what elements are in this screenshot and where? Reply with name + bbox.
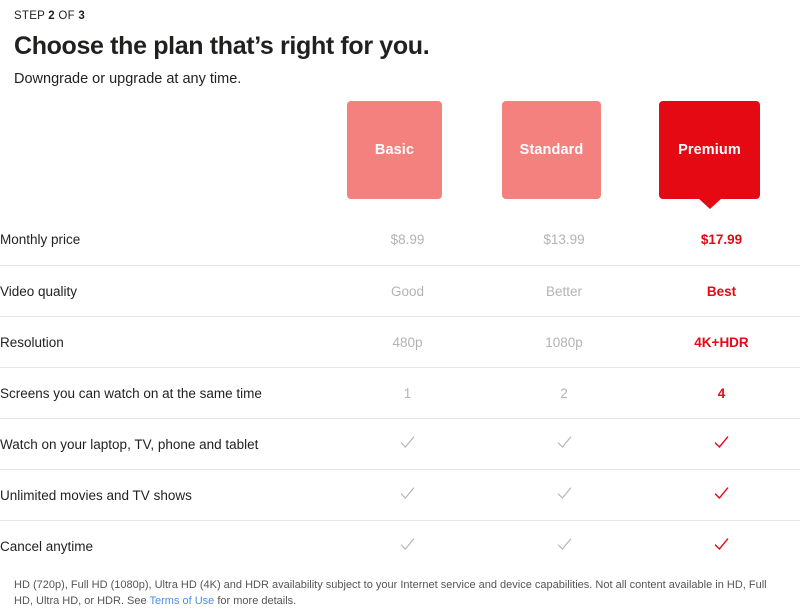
check-icon	[399, 485, 416, 502]
step-middle: OF	[55, 10, 78, 22]
plan-comparison-body: Monthly price $8.99 $13.99 $17.99 Video …	[0, 215, 800, 572]
value-basic: $8.99	[330, 215, 485, 266]
step-prefix: STEP	[14, 10, 48, 22]
value-premium	[643, 521, 800, 572]
terms-of-use-link[interactable]: Terms of Use	[150, 595, 215, 607]
value-premium: $17.99	[643, 215, 800, 266]
step-total: 3	[78, 10, 85, 22]
plan-card-premium[interactable]: Premium	[659, 101, 760, 199]
feature-label: Cancel anytime	[0, 521, 330, 572]
value-premium: 4K+HDR	[643, 317, 800, 368]
value-basic	[330, 521, 485, 572]
plan-comparison-table: Monthly price $8.99 $13.99 $17.99 Video …	[0, 215, 800, 572]
value-standard	[485, 521, 643, 572]
check-icon	[713, 434, 730, 451]
table-row: Screens you can watch on at the same tim…	[0, 368, 800, 419]
table-row: Cancel anytime	[0, 521, 800, 572]
table-row: Video quality Good Better Best	[0, 266, 800, 317]
step-indicator: STEP 2 OF 3	[14, 10, 786, 23]
value-basic	[330, 419, 485, 470]
table-row: Resolution 480p 1080p 4K+HDR	[0, 317, 800, 368]
page-header: STEP 2 OF 3 Choose the plan that’s right…	[0, 0, 800, 89]
value-basic: 1	[330, 368, 485, 419]
value-premium	[643, 470, 800, 521]
feature-label: Video quality	[0, 266, 330, 317]
plan-card-standard[interactable]: Standard	[502, 101, 601, 199]
value-basic	[330, 470, 485, 521]
selected-plan-pointer-icon	[698, 198, 722, 209]
value-premium: Best	[643, 266, 800, 317]
feature-label: Monthly price	[0, 215, 330, 266]
plan-card-basic-label: Basic	[375, 142, 414, 158]
value-premium: 4	[643, 368, 800, 419]
plan-card-premium-label: Premium	[678, 142, 741, 158]
page-subtitle: Downgrade or upgrade at any time.	[14, 70, 786, 88]
check-icon	[556, 536, 573, 553]
disclaimer-text: HD (720p), Full HD (1080p), Ultra HD (4K…	[14, 578, 786, 610]
table-row: Watch on your laptop, TV, phone and tabl…	[0, 419, 800, 470]
feature-label: Unlimited movies and TV shows	[0, 470, 330, 521]
value-standard: 1080p	[485, 317, 643, 368]
feature-label: Watch on your laptop, TV, phone and tabl…	[0, 419, 330, 470]
value-standard: $13.99	[485, 215, 643, 266]
check-icon	[713, 536, 730, 553]
plan-card-basic[interactable]: Basic	[347, 101, 442, 199]
value-standard: 2	[485, 368, 643, 419]
value-standard: Better	[485, 266, 643, 317]
value-basic: Good	[330, 266, 485, 317]
table-row: Unlimited movies and TV shows	[0, 470, 800, 521]
value-premium	[643, 419, 800, 470]
value-standard	[485, 419, 643, 470]
feature-label: Screens you can watch on at the same tim…	[0, 368, 330, 419]
plan-cards-row: Basic Standard Premium	[0, 101, 800, 213]
step-current: 2	[48, 10, 55, 22]
check-icon	[556, 485, 573, 502]
check-icon	[399, 434, 416, 451]
plan-card-standard-label: Standard	[520, 142, 584, 158]
check-icon	[713, 485, 730, 502]
disclaimer-after: for more details.	[214, 595, 296, 607]
feature-label: Resolution	[0, 317, 330, 368]
disclaimer-before: HD (720p), Full HD (1080p), Ultra HD (4K…	[14, 579, 767, 607]
check-icon	[556, 434, 573, 451]
value-basic: 480p	[330, 317, 485, 368]
plan-selection-page: STEP 2 OF 3 Choose the plan that’s right…	[0, 0, 800, 614]
value-standard	[485, 470, 643, 521]
table-row: Monthly price $8.99 $13.99 $17.99	[0, 215, 800, 266]
page-title: Choose the plan that’s right for you.	[14, 32, 786, 61]
check-icon	[399, 536, 416, 553]
